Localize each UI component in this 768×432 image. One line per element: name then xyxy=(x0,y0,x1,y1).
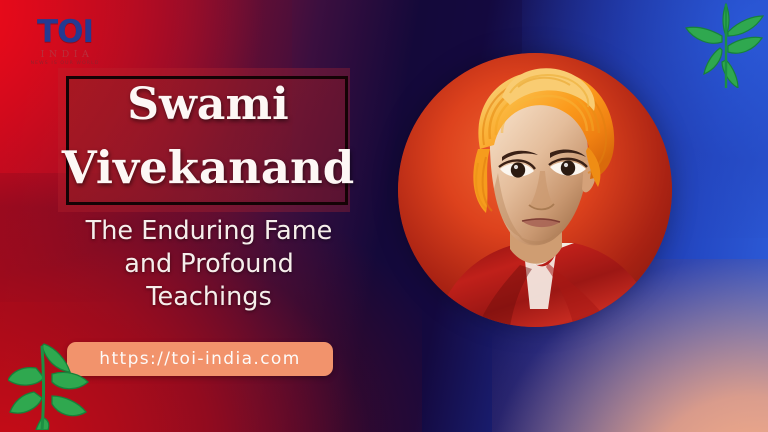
page-subtitle: The Enduring Fame and Profound Teachings xyxy=(50,215,368,314)
poster-canvas: TOI INDIA NEWS IS OUR WORLD xyxy=(0,0,768,432)
leaf-sprig-icon xyxy=(660,2,764,88)
title-box xyxy=(66,76,348,205)
brand-logo-subtitle: INDIA xyxy=(10,50,120,60)
portrait-image xyxy=(398,53,672,327)
page-subtitle-line-3: Teachings xyxy=(50,281,368,314)
brand-logo-mark: TOI xyxy=(10,18,120,47)
brand-logo: TOI INDIA NEWS IS OUR WORLD xyxy=(10,18,120,67)
page-subtitle-line-1: The Enduring Fame xyxy=(50,215,368,248)
brand-logo-tagline: NEWS IS OUR WORLD xyxy=(10,62,120,67)
leaf-sprig-icon xyxy=(8,334,116,430)
page-subtitle-line-2: and Profound xyxy=(50,248,368,281)
website-url-text: https://toi-india.com xyxy=(99,349,300,369)
